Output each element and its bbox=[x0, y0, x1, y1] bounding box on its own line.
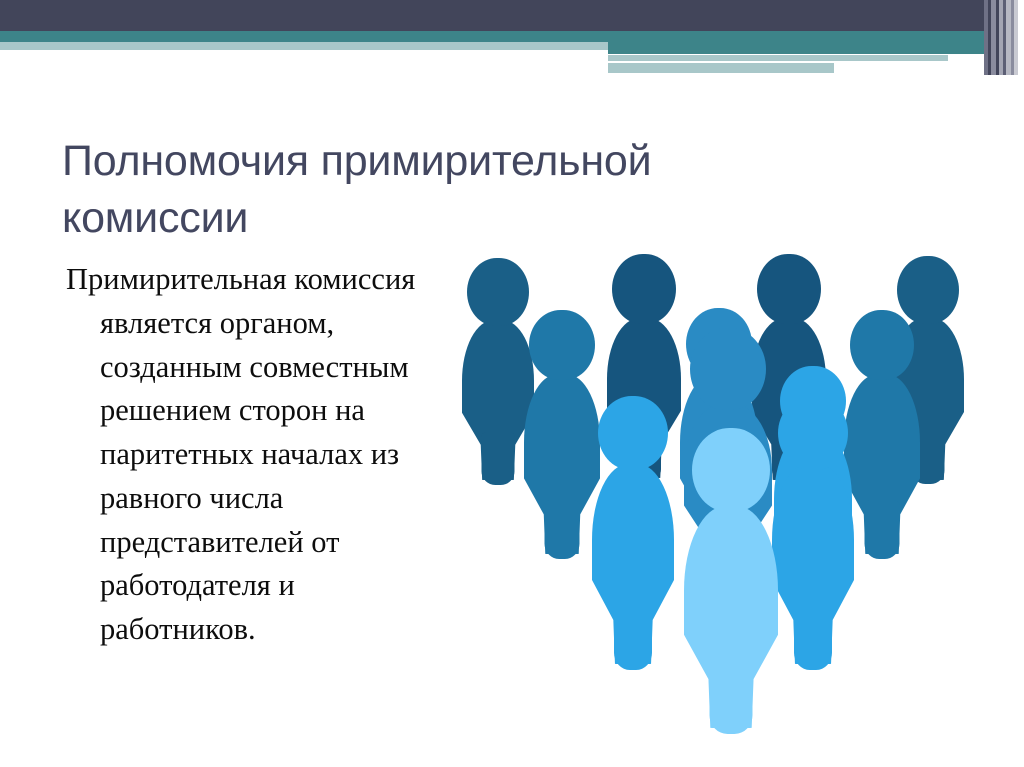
header-band-teal bbox=[0, 31, 1024, 42]
person-head-icon bbox=[850, 310, 914, 380]
header-band-teal-extension bbox=[608, 42, 1024, 54]
person-head-icon bbox=[598, 396, 668, 470]
header-decoration bbox=[0, 0, 1024, 80]
person-legs-icon bbox=[482, 432, 515, 485]
person-legs-icon bbox=[545, 500, 580, 559]
person-legs-icon bbox=[614, 604, 652, 670]
slide-body-text: Примирительная комиссия является органом… bbox=[66, 258, 426, 652]
header-right-vertical-stripes bbox=[984, 0, 1024, 75]
header-band-pale-left bbox=[0, 42, 608, 50]
figure-row2-left bbox=[524, 310, 600, 560]
person-head-icon bbox=[778, 396, 848, 470]
slide-canvas: Полномочия примирительной комиссии Прими… bbox=[0, 0, 1024, 767]
person-head-icon bbox=[612, 254, 676, 324]
person-legs-icon bbox=[794, 604, 832, 670]
slide-title: Полномочия примирительной комиссии bbox=[62, 133, 802, 247]
group-of-people-icon bbox=[452, 248, 1012, 708]
figure-centre-front bbox=[684, 428, 778, 734]
header-stripe-9 bbox=[1018, 0, 1024, 75]
person-legs-icon bbox=[865, 500, 900, 559]
figure-front-left bbox=[592, 396, 674, 670]
header-band-dark-slate bbox=[0, 0, 1024, 31]
figure-row2-right bbox=[844, 310, 920, 560]
person-head-icon bbox=[692, 428, 770, 512]
person-head-icon bbox=[467, 258, 529, 326]
header-band-pale-line-2 bbox=[608, 63, 834, 73]
body-paragraph: Примирительная комиссия является органом… bbox=[66, 258, 426, 652]
figure-front-right bbox=[772, 396, 854, 670]
person-head-icon bbox=[757, 254, 821, 324]
person-legs-icon bbox=[710, 661, 753, 734]
person-head-icon bbox=[529, 310, 595, 380]
header-band-pale-line-1 bbox=[608, 55, 948, 61]
person-head-icon bbox=[690, 328, 766, 410]
